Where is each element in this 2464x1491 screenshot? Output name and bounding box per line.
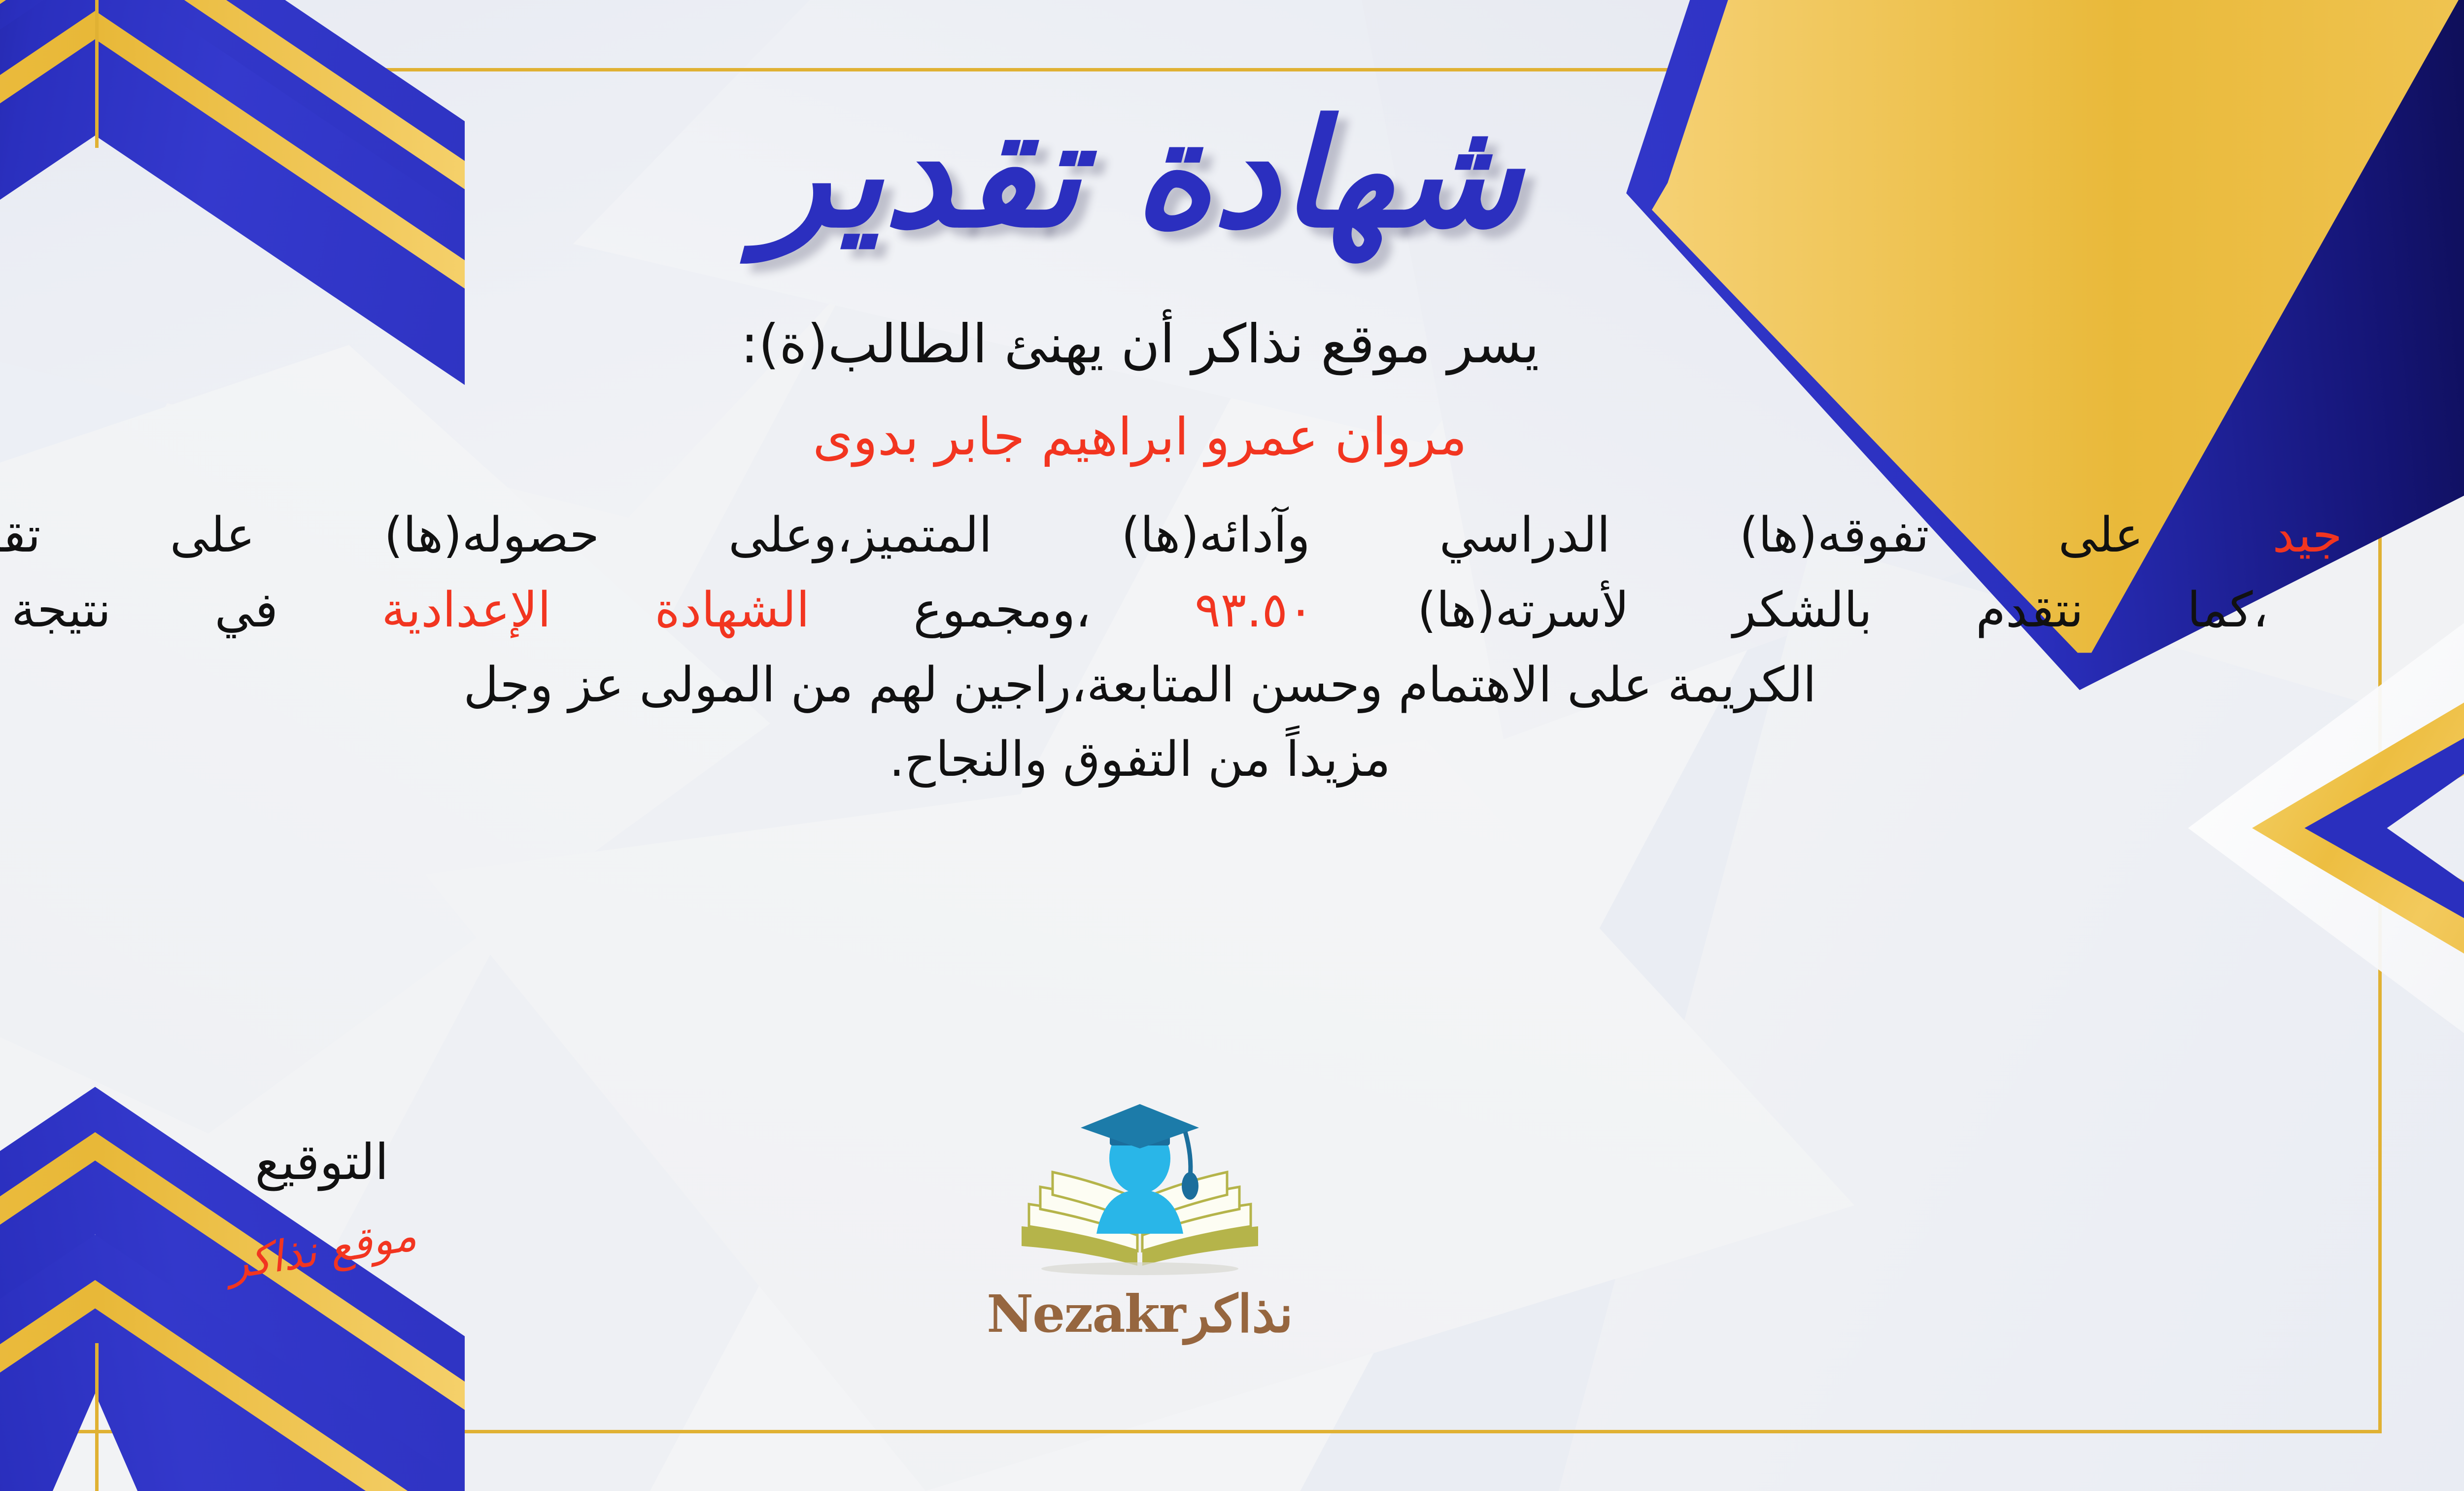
page-title: شهادة تقدير [0, 97, 2401, 252]
signature-script: موقع نذاكر [224, 1211, 420, 1289]
certificate-footer: التوقيع موقع نذاكر [0, 1093, 2377, 1409]
grade-value: جيد [2272, 507, 2342, 563]
certificate-body: جيد على تفوقه(ها) الدراسي وآدائه(ها) الم… [0, 498, 2377, 798]
student-name: مروان عمرو ابراهيم جابر بدوى [0, 406, 2377, 468]
certificate-content: شهادة تقدير يسر موقع نذاكر أن يهنئ الطال… [0, 73, 2377, 1428]
body-line-1: جيد على تفوقه(ها) الدراسي وآدائه(ها) الم… [0, 498, 2347, 573]
body-line-2-suffix: ،كما نتقدم بالشكر لأسرته(ها) [1417, 582, 2268, 638]
brand-logo-text: Nezakrنذاكر [953, 1283, 1327, 1344]
exam-name-value: الشهادة الإعدادية [381, 582, 810, 638]
certificate-canvas: شهادة تقدير يسر موقع نذاكر أن يهنئ الطال… [0, 0, 2464, 1491]
graduate-book-logo-icon [1002, 1103, 1278, 1290]
brand-logo: Nezakrنذاكر [953, 1103, 1327, 1344]
signature-label: التوقيع [135, 1138, 509, 1187]
body-line-2: ،كما نتقدم بالشكر لأسرته(ها) ٩٣.٥٠ ،ومجم… [0, 573, 2347, 648]
signature-block: التوقيع موقع نذاكر [135, 1138, 509, 1275]
body-line-2-prefix: في نتيجة [11, 582, 278, 638]
body-line-3: الكريمة على الاهتمام وحسن المتابعة،راجين… [0, 648, 2347, 723]
body-line-2-mid: ،ومجموع [913, 582, 1091, 638]
total-score-value: ٩٣.٥٠ [1195, 582, 1314, 638]
congratulation-intro-text: يسر موقع نذاكر أن يهنئ الطالب(ة): [0, 311, 2377, 378]
body-line-4: مزيداً من التفوق والنجاح. [0, 723, 2347, 798]
body-line-1-text: على تفوقه(ها) الدراسي وآدائه(ها) المتميز… [0, 507, 2143, 563]
